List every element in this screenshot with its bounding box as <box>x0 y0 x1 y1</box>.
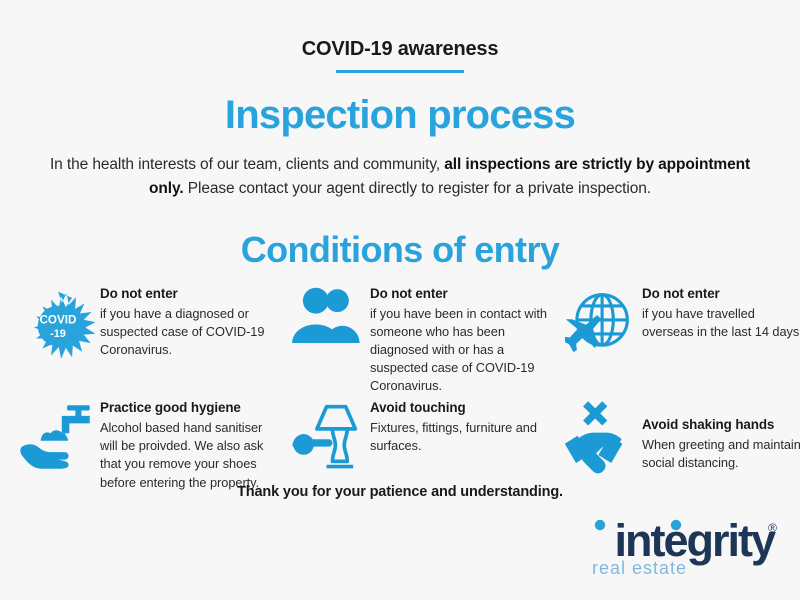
condition-item: COVID -19 Do not enter if you have a dia… <box>16 285 280 396</box>
logo-tagline: real estate <box>592 558 687 578</box>
condition-item: Practice good hygiene Alcohol based hand… <box>16 399 280 491</box>
eyebrow-block: COVID-19 awareness <box>0 0 800 73</box>
thank-you-text: Thank you for your patience and understa… <box>0 484 800 500</box>
logo-dot-i-second <box>671 520 681 530</box>
conditions-grid: COVID -19 Do not enter if you have a dia… <box>0 285 800 492</box>
page-title: Inspection process <box>0 94 800 136</box>
handshake-cross-icon <box>558 399 642 485</box>
condition-body: if you have been in contact with someone… <box>370 305 552 396</box>
eyebrow-divider <box>336 70 464 73</box>
condition-item: Do not enter if you have travelled overs… <box>558 285 800 396</box>
handwash-faucet-icon <box>16 399 100 477</box>
condition-heading: Avoid touching <box>370 400 552 417</box>
condition-heading: Do not enter <box>642 286 800 303</box>
two-people-icon <box>286 285 370 363</box>
integrity-logo: integrity ® real estate <box>570 512 778 578</box>
condition-item: Do not enter if you have been in contact… <box>286 285 552 396</box>
intro-paragraph: In the health interests of our team, cli… <box>43 153 757 202</box>
intro-part-1: In the health interests of our team, cli… <box>50 156 444 173</box>
conditions-title: Conditions of entry <box>0 231 800 269</box>
condition-item: Avoid shaking hands When greeting and ma… <box>558 399 800 491</box>
condition-text: Avoid touching Fixtures, fittings, furni… <box>370 399 552 455</box>
condition-body: When greeting and maintain social distan… <box>642 436 800 472</box>
condition-text: Do not enter if you have been in contact… <box>370 285 552 396</box>
condition-item: Avoid touching Fixtures, fittings, furni… <box>286 399 552 491</box>
logo-registered-mark: ® <box>768 521 777 535</box>
intro-part-2: Please contact your agent directly to re… <box>184 180 651 197</box>
condition-text: Avoid shaking hands When greeting and ma… <box>642 399 800 472</box>
condition-text: Practice good hygiene Alcohol based hand… <box>100 399 280 491</box>
logo-dot-i-first <box>595 520 605 530</box>
condition-heading: Practice good hygiene <box>100 400 280 417</box>
covid-icon-label-top: COVID <box>39 313 76 326</box>
covid-icon-label-bottom: -19 <box>50 328 66 340</box>
condition-heading: Do not enter <box>370 286 552 303</box>
covid-virus-icon: COVID -19 <box>16 285 100 363</box>
lamp-pointing-hand-icon <box>286 399 370 477</box>
condition-body: Fixtures, fittings, furniture and surfac… <box>370 419 552 455</box>
poster-canvas: COVID-19 awareness Inspection process In… <box>0 0 800 600</box>
condition-body: Alcohol based hand sanitiser will be pro… <box>100 419 280 492</box>
condition-heading: Avoid shaking hands <box>642 417 800 434</box>
condition-heading: Do not enter <box>100 286 280 303</box>
globe-airplane-icon <box>558 285 642 363</box>
condition-body: if you have travelled overseas in the la… <box>642 305 800 341</box>
condition-body: if you have a diagnosed or suspected cas… <box>100 305 280 359</box>
condition-text: Do not enter if you have a diagnosed or … <box>100 285 280 359</box>
page-eyebrow: COVID-19 awareness <box>302 38 499 61</box>
condition-text: Do not enter if you have travelled overs… <box>642 285 800 341</box>
